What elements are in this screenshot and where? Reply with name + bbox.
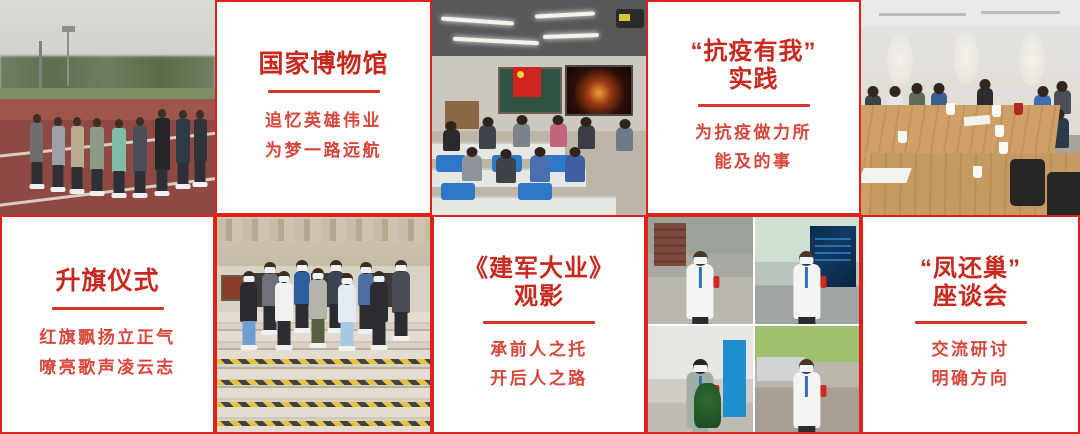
student-figure	[392, 271, 410, 313]
card-subtitle: 为抗疫做力所 能及的事	[695, 118, 812, 178]
seated-student	[550, 123, 567, 147]
paper-cup	[992, 105, 1001, 117]
paper-cup	[999, 142, 1008, 154]
antenna-tower-icon	[39, 41, 42, 88]
collage-grid	[648, 217, 859, 432]
student-figure	[71, 126, 84, 168]
classroom-scene	[432, 0, 646, 215]
card-title: 《建军大业》 观影	[464, 255, 614, 312]
projector-icon	[616, 9, 644, 28]
card-body: 《建军大业》 观影 承前人之托 开后人之路	[434, 217, 644, 432]
flag-raising-scene	[0, 0, 215, 215]
title-divider	[698, 104, 810, 107]
student-figure	[294, 271, 310, 305]
museum-steps-scene	[217, 217, 430, 432]
paper-document	[861, 168, 912, 183]
volunteer-figure	[687, 372, 714, 427]
card-body: 升旗仪式 红旗飘扬立正气 嘹亮歌声凌云志	[2, 217, 213, 432]
student-figure	[194, 119, 207, 161]
classroom-chair	[441, 183, 475, 200]
card-subtitle: 承前人之托 开后人之路	[490, 335, 588, 395]
card-subtitle: 红旗飘扬立正气 嘹亮歌声凌云志	[39, 323, 176, 383]
seated-student	[616, 127, 633, 151]
stadium-light-pole-icon	[67, 30, 69, 86]
seated-student	[513, 123, 530, 147]
card-body: 国家博物馆 追忆英雄伟业 为梦一路远航	[217, 2, 430, 213]
card-flag-raising: 升旗仪式 红旗飘扬立正气 嘹亮歌声凌云志	[0, 215, 215, 434]
seated-student	[578, 125, 595, 149]
photo-museum-group	[215, 215, 432, 434]
collage-quadrant-lobby-screen	[755, 217, 860, 324]
office-chair	[1010, 159, 1045, 206]
hazard-stripe	[217, 359, 430, 364]
collage-quadrant-street-checkpoint	[648, 217, 753, 324]
projection-screen	[565, 65, 633, 116]
card-subtitle: 追忆英雄伟业 为梦一路远航	[265, 106, 382, 166]
card-body: “抗疫有我” 实践 为抗疫做力所 能及的事	[648, 2, 859, 213]
activity-poster-grid: 国家博物馆 追忆英雄伟业 为梦一路远航	[0, 0, 1080, 434]
title-divider	[483, 321, 595, 324]
photo-conference-room-meeting	[861, 0, 1080, 215]
paper-cup	[946, 103, 955, 115]
seated-student	[530, 155, 550, 182]
seated-student	[462, 155, 482, 181]
student-leader-figure	[155, 118, 170, 170]
paper-cup	[995, 125, 1004, 137]
card-symposium: “凤还巢” 座谈会 交流研讨 明确方向	[861, 215, 1080, 434]
hazard-stripe	[217, 421, 430, 426]
volunteer-figure	[793, 264, 820, 319]
student-figure	[309, 279, 327, 320]
hazard-stripe	[217, 380, 430, 385]
stone-relief-frieze	[217, 219, 430, 241]
flag-star-icon	[517, 71, 524, 78]
ceiling-slot	[879, 13, 967, 16]
student-figure	[133, 126, 147, 172]
film-frame	[567, 67, 631, 114]
card-title: “凤还巢” 座谈会	[920, 255, 1021, 312]
paper-cup	[973, 166, 982, 178]
volunteer-figure	[793, 372, 820, 427]
card-subtitle: 交流研讨 明确方向	[932, 335, 1010, 395]
volunteer-figure	[687, 264, 714, 319]
student-figure	[112, 128, 126, 172]
student-figure	[338, 284, 356, 323]
card-title: 升旗仪式	[55, 267, 159, 297]
student-figure	[30, 123, 43, 163]
title-divider	[915, 321, 1027, 324]
title-divider	[52, 307, 164, 310]
collage-quadrant-building-entrance	[648, 326, 753, 433]
card-national-museum: 国家博物馆 追忆英雄伟业 为梦一路远航	[215, 0, 432, 215]
student-figure	[240, 282, 257, 322]
office-chair	[1047, 172, 1080, 215]
meeting-room-scene	[861, 0, 1080, 215]
title-divider	[268, 90, 380, 93]
student-figure	[370, 282, 388, 322]
photo-classroom-film-screening	[432, 0, 646, 215]
hazard-stripe	[217, 402, 430, 407]
card-title: “抗疫有我” 实践	[691, 38, 817, 95]
card-title: 国家博物馆	[258, 50, 388, 80]
ceiling-slot	[981, 11, 1060, 14]
student-figure	[275, 282, 293, 322]
photo-volunteer-collage	[646, 215, 861, 434]
paper-cup	[898, 131, 907, 143]
seated-student	[496, 157, 516, 183]
wall-light-glow	[953, 32, 979, 84]
photo-flag-raising-ceremony	[0, 0, 215, 215]
seated-student	[565, 155, 585, 182]
card-body: “凤还巢” 座谈会 交流研讨 明确方向	[863, 217, 1078, 432]
thermos-cup	[1014, 103, 1023, 115]
card-epidemic-practice: “抗疫有我” 实践 为抗疫做力所 能及的事	[646, 0, 861, 215]
seated-student	[443, 129, 460, 151]
student-figure	[90, 127, 104, 170]
wall-light-glow	[1019, 34, 1045, 86]
collage-quadrant-outdoor-gate	[755, 326, 860, 433]
student-figure	[176, 119, 190, 163]
card-film-screening: 《建军大业》 观影 承前人之托 开后人之路	[432, 215, 646, 434]
ceiling-layer	[432, 0, 646, 58]
seated-student	[479, 125, 496, 149]
student-figure	[52, 126, 65, 166]
classroom-chair	[518, 183, 552, 200]
